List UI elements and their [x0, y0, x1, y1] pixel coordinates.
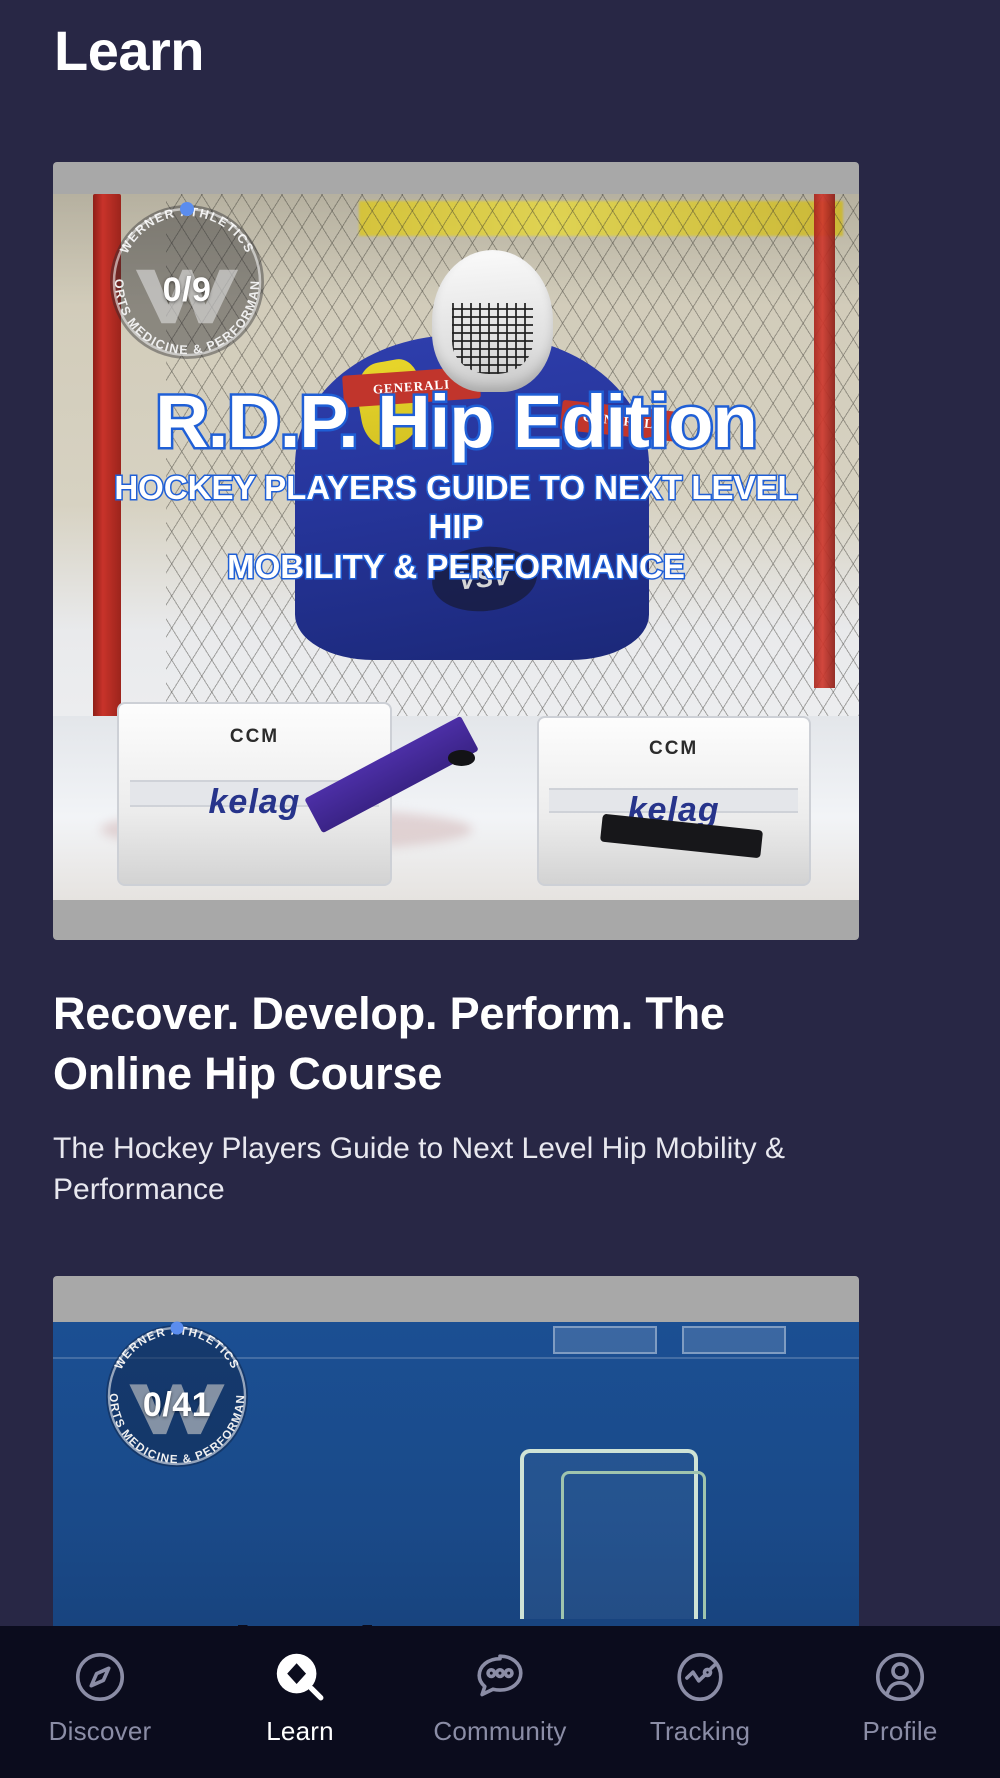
speech-bubble-dots-icon [471, 1648, 529, 1706]
magnifier-diamond-icon [271, 1648, 329, 1706]
person-circle-icon [871, 1648, 929, 1706]
board-panel [682, 1326, 787, 1354]
progress-badge: WERNER ATHLETICS SPORTS MEDICINE & PERFO… [95, 1314, 259, 1478]
board-panel [553, 1326, 658, 1354]
course-card[interactable]: WERNER ATHLETICS SPORTS MEDICINE & PERFO… [53, 1276, 859, 1676]
pad-brand-label: CCM [539, 738, 809, 760]
scroll-content[interactable]: Learn GENERALI GENERALI VSV [0, 0, 1000, 1778]
nav-label-community: Community [433, 1716, 566, 1747]
course-card[interactable]: GENERALI GENERALI VSV CCM kelag CCM kela… [53, 162, 859, 1210]
puck [448, 750, 475, 766]
activity-chart-icon [671, 1648, 729, 1706]
nav-item-tracking[interactable]: Tracking [600, 1648, 800, 1747]
nav-item-community[interactable]: Community [400, 1648, 600, 1747]
thumbnail-overlay-copy: R.D.P. Hip Edition Hockey players guide … [85, 385, 827, 588]
compass-icon [71, 1648, 129, 1706]
thumbnail-headline: R.D.P. Hip Edition [85, 385, 827, 459]
page-title: Learn [54, 20, 204, 82]
nav-label-profile: Profile [862, 1716, 937, 1747]
goalie-cage [452, 303, 533, 374]
progress-badge-text: 0/41 [95, 1386, 259, 1425]
course-thumbnail[interactable]: GENERALI GENERALI VSV CCM kelag CCM kela… [53, 162, 859, 940]
nav-label-learn: Learn [266, 1716, 334, 1747]
course-description: The Hockey Players Guide to Next Level H… [53, 1128, 859, 1211]
thumbnail-subline-1: Hockey players guide to next level hip [85, 469, 827, 547]
course-thumbnail[interactable]: WERNER ATHLETICS SPORTS MEDICINE & PERFO… [53, 1276, 859, 1676]
goal-frame-inner [561, 1471, 706, 1620]
nav-item-profile[interactable]: Profile [800, 1648, 1000, 1747]
nav-item-learn[interactable]: Learn [200, 1648, 400, 1747]
course-title: Recover. Develop. Perform. The Online Hi… [53, 984, 859, 1104]
progress-badge-text: 0/9 [99, 271, 275, 310]
thumbnail-subline-2: Mobility & Performance [85, 548, 827, 587]
pad-brand-label: CCM [119, 726, 389, 748]
nav-label-discover: Discover [49, 1716, 152, 1747]
nav-item-discover[interactable]: Discover [0, 1648, 200, 1747]
bottom-navigation: Discover Learn Community [0, 1626, 1000, 1778]
nav-label-tracking: Tracking [650, 1716, 750, 1747]
goalie-pad-right: CCM kelag [537, 716, 811, 885]
app-screen: Learn GENERALI GENERALI VSV [0, 0, 1000, 1778]
progress-badge: WERNER ATHLETICS SPORTS MEDICINE & PERFO… [99, 194, 275, 370]
